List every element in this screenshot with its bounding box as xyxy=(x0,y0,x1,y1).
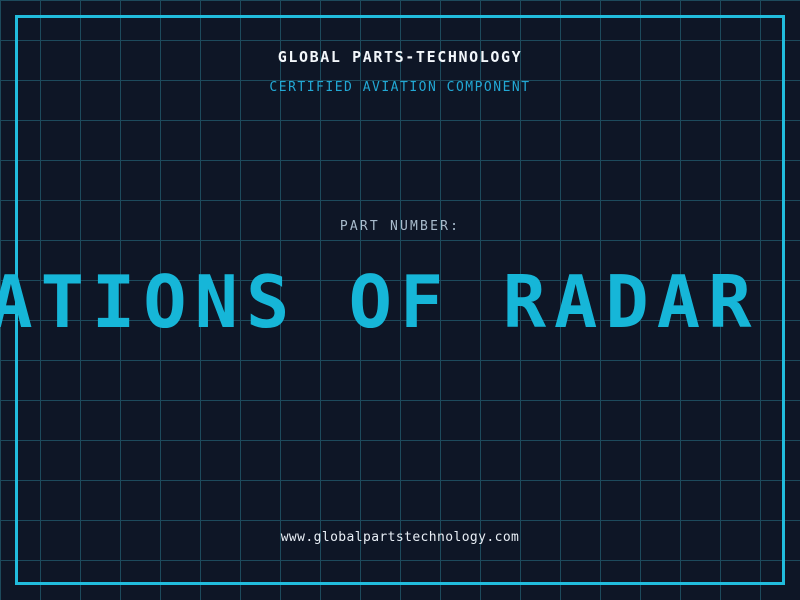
headline-clip-band: CATIONS OF RADAR S xyxy=(0,258,800,346)
headline-text: CATIONS OF RADAR S xyxy=(0,266,800,338)
card-content: GLOBAL PARTS-TECHNOLOGY CERTIFIED AVIATI… xyxy=(0,0,800,600)
website-url: www.globalpartstechnology.com xyxy=(0,530,800,545)
blueprint-part-card: GLOBAL PARTS-TECHNOLOGY CERTIFIED AVIATI… xyxy=(0,0,800,600)
page-title: GLOBAL PARTS-TECHNOLOGY xyxy=(0,48,800,66)
certification-subtitle: CERTIFIED AVIATION COMPONENT xyxy=(0,80,800,95)
part-number-label: PART NUMBER: xyxy=(0,219,800,234)
